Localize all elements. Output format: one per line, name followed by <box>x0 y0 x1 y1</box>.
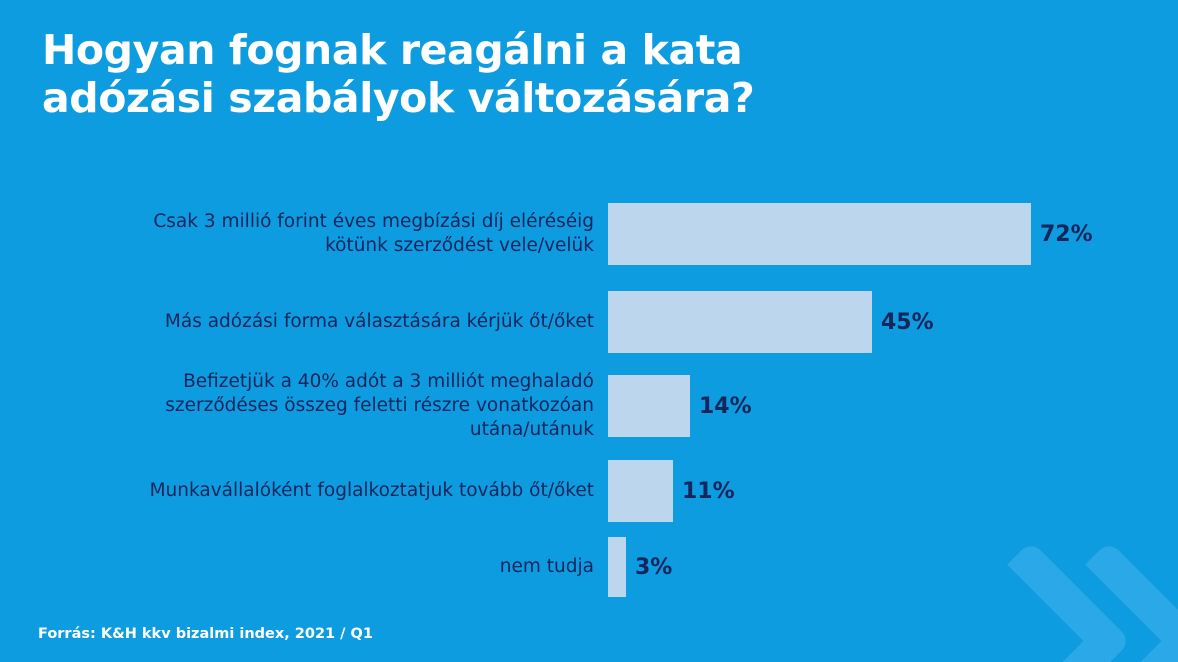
category-label: Munkavállalóként foglalkoztatjuk tovább … <box>0 479 608 503</box>
bar-zone: 72% <box>608 190 1178 278</box>
category-label: Más adózási forma választására kérjük őt… <box>0 310 608 334</box>
source-note: Forrás: K&H kkv bizalmi index, 2021 / Q1 <box>38 626 373 642</box>
bar-zone: 3% <box>608 536 1178 598</box>
bar[interactable] <box>608 291 872 353</box>
bar[interactable] <box>608 375 690 437</box>
bar-value-label: 14% <box>699 394 752 419</box>
category-label: Csak 3 millió forint éves megbízási díj … <box>0 210 608 257</box>
bar[interactable] <box>608 203 1031 265</box>
chart-row: nem tudja3% <box>0 536 1178 598</box>
chart-row: Csak 3 millió forint éves megbízási díj … <box>0 190 1178 278</box>
bar-chart: Csak 3 millió forint éves megbízási díj … <box>0 190 1178 598</box>
page-title: Hogyan fognak reagálni a kata adózási sz… <box>42 26 942 123</box>
category-label: Befizetjük a 40% adót a 3 milliót meghal… <box>0 370 608 441</box>
bar[interactable] <box>608 537 626 597</box>
bar-value-label: 72% <box>1040 222 1093 247</box>
slide: Hogyan fognak reagálni a kata adózási sz… <box>0 0 1178 662</box>
bar-value-label: 3% <box>635 555 672 580</box>
bar-value-label: 11% <box>682 479 735 504</box>
bar-zone: 11% <box>608 446 1178 536</box>
bar-zone: 14% <box>608 366 1178 446</box>
chart-row: Befizetjük a 40% adót a 3 milliót meghal… <box>0 366 1178 446</box>
bar[interactable] <box>608 460 673 522</box>
chart-row: Más adózási forma választására kérjük őt… <box>0 278 1178 366</box>
bar-zone: 45% <box>608 278 1178 366</box>
category-label: nem tudja <box>0 555 608 579</box>
chart-row: Munkavállalóként foglalkoztatjuk tovább … <box>0 446 1178 536</box>
bar-value-label: 45% <box>881 310 934 335</box>
